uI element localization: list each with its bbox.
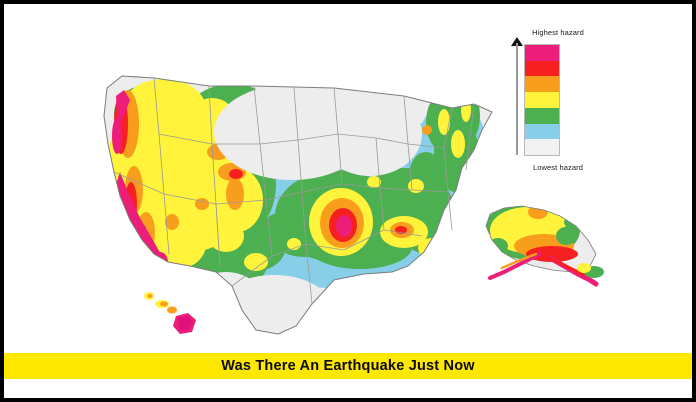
- legend-axis-line: [516, 43, 518, 155]
- legend-swatch-low-moderate: [525, 108, 559, 124]
- alaska-inset: [482, 200, 604, 284]
- legend-swatch-low: [525, 124, 559, 140]
- caption-underline-space: [4, 379, 692, 398]
- hawaii-inset: [144, 292, 196, 334]
- hazard-legend: Highest hazard Lowest hazard: [498, 28, 618, 180]
- legend-swatch-lowest: [525, 139, 559, 155]
- legend-swatch-very-high: [525, 61, 559, 77]
- caption-bar: Was There An Earthquake Just Now: [4, 353, 692, 379]
- image-frame: Highest hazard Lowest hazard Was There A…: [4, 4, 692, 398]
- legend-swatch-moderate: [525, 92, 559, 108]
- legend-swatch-highest: [525, 45, 559, 61]
- legend-swatch-high: [525, 76, 559, 92]
- seismic-hazard-map: Highest hazard Lowest hazard: [4, 4, 692, 352]
- legend-highest-label: Highest hazard: [498, 28, 618, 37]
- legend-color-bar: [524, 44, 560, 156]
- caption-text: Was There An Earthquake Just Now: [221, 358, 475, 374]
- legend-lowest-label: Lowest hazard: [498, 163, 618, 172]
